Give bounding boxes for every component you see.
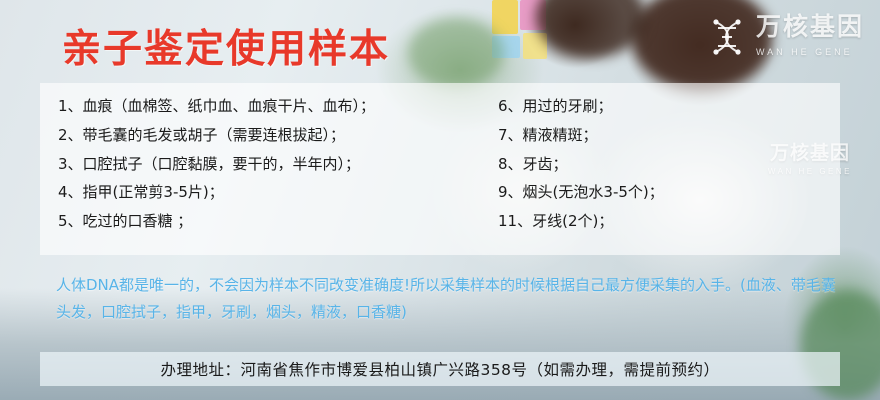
sample-list-left-column: 1、血痕（血棉签、纸巾血、血痕干片、血布）； 2、带毛囊的毛发或胡子（需要连根拔… [40,83,480,255]
list-item: 1、血痕（血棉签、纸巾血、血痕干片、血布）； [58,95,480,118]
list-item: 4、指甲(正常剪3-5片)； [58,181,480,204]
list-item: 5、吃过的口香糖 ； [58,210,480,233]
list-item: 3、口腔拭子（口腔黏膜，要干的，半年内）； [58,153,480,176]
poster-root: 万核基因 WAN HE GENE 万核基因 WAN HE GENE 亲子鉴定使用… [0,0,880,400]
sample-list-panel: 1、血痕（血棉签、纸巾血、血痕干片、血布）； 2、带毛囊的毛发或胡子（需要连根拔… [40,83,840,255]
sticky-note [492,0,518,34]
watermark-brand-cn: 万核基因 [756,13,864,41]
description-paragraph: 人体DNA都是唯一的，不会因为样本不同改变准确度!所以采集样本的时候根据自己最方… [56,272,846,326]
plant-blob [408,18,504,88]
list-item: 2、带毛囊的毛发或胡子（需要连根拔起）； [58,124,480,147]
dna-logo-icon [706,16,748,58]
sample-list-right-column: 6、用过的牙刷； 7、精液精斑； 8、牙齿； 9、烟头(无泡水3-5个)； 11… [480,83,840,255]
list-item: 6、用过的牙刷； [498,95,840,118]
address-bar: 办理地址：河南省焦作市博爱县柏山镇广兴路358号（如需办理，需提前预约） [40,352,840,386]
list-item: 7、精液精斑； [498,124,840,147]
list-item: 9、烟头(无泡水3-5个)； [498,181,840,204]
watermark-brand-en: WAN HE GENE [756,47,853,57]
watermark-top-right: 万核基因 WAN HE GENE [706,14,864,60]
page-title: 亲子鉴定使用样本 [62,18,390,74]
list-item: 11、牙线(2个)； [498,210,840,233]
list-item: 8、牙齿； [498,153,840,176]
